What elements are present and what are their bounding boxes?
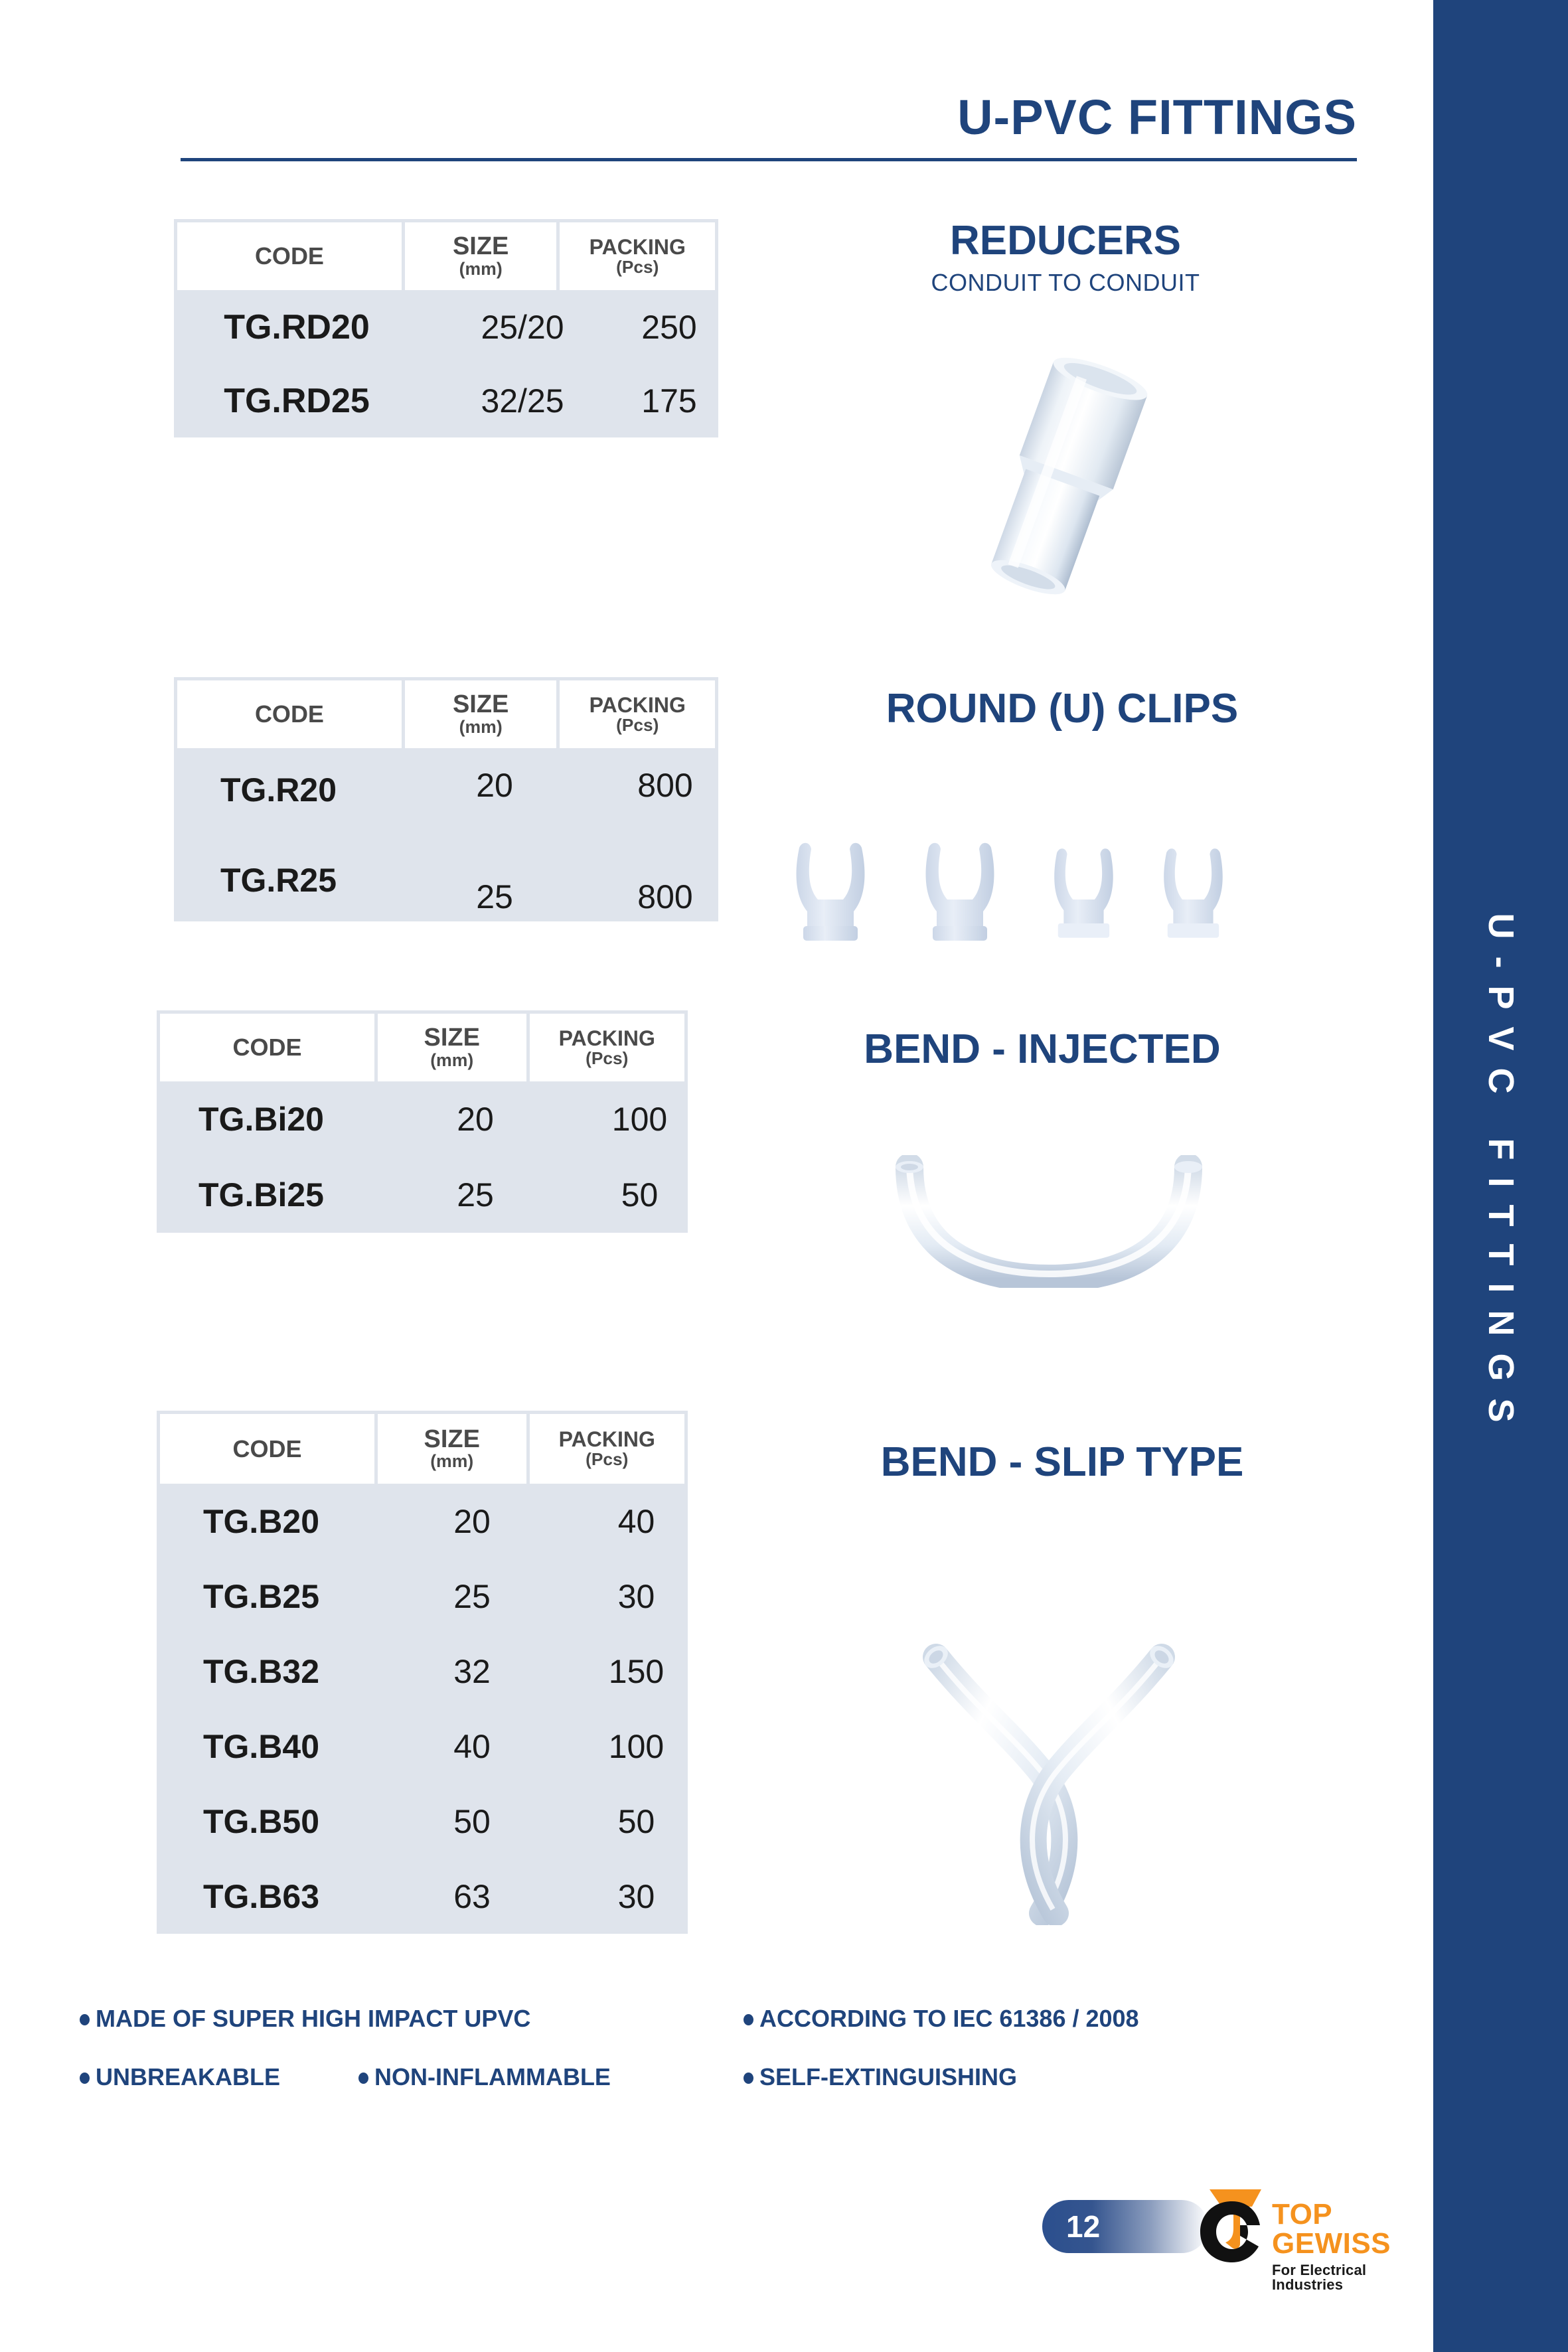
page-number: 12 — [1066, 2209, 1100, 2244]
spec-column-packing: 100 50 — [591, 1081, 688, 1233]
section-title: BEND - SLIP TYPE — [763, 1441, 1361, 1484]
table-cell-size: 32 — [396, 1634, 548, 1709]
section-heading-bend-injected: BEND - INJECTED — [744, 1028, 1341, 1071]
feature-row-1: MADE OF SUPER HIGH IMPACT UPVC ACCORDING… — [80, 2005, 1341, 2033]
table-cell-code: TG.B40 — [157, 1709, 366, 1784]
feature-label: MADE OF SUPER HIGH IMPACT UPVC — [96, 2005, 530, 2033]
column-header-code: CODE — [160, 1014, 378, 1081]
bullet-dot-icon — [80, 2014, 90, 2025]
table-cell-size: 20 — [396, 1081, 555, 1157]
section-title: BEND - INJECTED — [744, 1028, 1341, 1071]
table-cell-packing: 50 — [585, 1784, 688, 1859]
table-cell-size: 20 — [396, 1484, 548, 1559]
table-cell-code: TG.B50 — [157, 1784, 366, 1859]
spec-column-code: TG.R25 — [174, 839, 383, 921]
feature-item: UNBREAKABLE — [80, 2063, 358, 2091]
spec-column-size: 20 25 — [396, 1081, 555, 1233]
section-subtitle: CONDUIT TO CONDUIT — [790, 269, 1341, 297]
feature-item: ACCORDING TO IEC 61386 / 2008 — [744, 2005, 1139, 2033]
page-header: U-PVC FITTINGS — [181, 93, 1357, 161]
side-tab-upvc-fittings: U-PVC FITTINGS — [1433, 0, 1568, 2352]
table-cell-code: TG.RD25 — [174, 364, 420, 437]
table-cell-packing: 800 — [612, 872, 718, 921]
feature-bullets: MADE OF SUPER HIGH IMPACT UPVC ACCORDING… — [80, 2005, 1341, 2091]
table-cell-packing: 150 — [585, 1634, 688, 1709]
header-rule — [181, 158, 1357, 161]
table-cell-packing: 175 — [620, 364, 718, 437]
bullet-dot-icon — [80, 2073, 90, 2084]
feature-label: ACCORDING TO IEC 61386 / 2008 — [759, 2005, 1139, 2033]
spec-column-size: 20 25 — [418, 748, 571, 872]
column-header-size: SIZE (mm) — [405, 680, 560, 748]
section-title: REDUCERS — [790, 219, 1341, 262]
table-cell-packing: 40 — [585, 1484, 688, 1559]
product-image-slip-type-bends — [876, 1593, 1221, 1925]
table-cell-code: TG.B25 — [157, 1559, 366, 1634]
feature-item: MADE OF SUPER HIGH IMPACT UPVC — [80, 2005, 744, 2033]
column-header-code: CODE — [177, 680, 405, 748]
table-cell-code: TG.Bi20 — [157, 1081, 366, 1157]
table-cell-code: TG.R20 — [174, 748, 383, 831]
column-header-packing: PACKING (Pcs) — [560, 680, 715, 748]
table-cell-size: 25 — [396, 1157, 555, 1233]
feature-row-2: UNBREAKABLE NON-INFLAMMABLE SELF-EXTINGU… — [80, 2063, 1341, 2091]
table-cell-packing: 800 — [612, 748, 718, 823]
section-heading-round-u-clips: ROUND (U) CLIPS — [763, 687, 1361, 730]
table-cell-code: TG.B63 — [157, 1859, 366, 1934]
catalog-page: U-PVC FITTINGS CODE SIZE (mm) PACKING (P… — [0, 0, 1433, 2352]
brand-tagline: For Electrical Industries — [1272, 2263, 1391, 2292]
table-cell-size: 63 — [396, 1859, 548, 1934]
feature-label: UNBREAKABLE — [96, 2063, 280, 2091]
page-footer: 12 TOP GEWISS For Electrical Industries — [1042, 2185, 1374, 2285]
column-header-size: SIZE (mm) — [378, 1414, 530, 1484]
brand-logo-text: TOP GEWISS For Electrical Industries — [1272, 2200, 1391, 2292]
feature-item: NON-INFLAMMABLE — [358, 2063, 744, 2091]
feature-label: SELF-EXTINGUISHING — [759, 2063, 1017, 2091]
table-cell-size: 32/25 — [449, 364, 595, 437]
section-title: ROUND (U) CLIPS — [763, 687, 1361, 730]
column-header-code: CODE — [160, 1414, 378, 1484]
spec-table-bend-slip-type: CODE SIZE (mm) PACKING (Pcs) TG.B20 TG.B… — [157, 1411, 688, 1934]
table-cell-packing: 30 — [585, 1559, 688, 1634]
table-cell-code: TG.B20 — [157, 1484, 366, 1559]
column-header-size: SIZE (mm) — [405, 222, 560, 290]
table-cell-size: 20 — [418, 748, 571, 823]
product-image-reducer-coupling — [929, 345, 1195, 611]
product-image-round-u-clips — [783, 833, 1334, 953]
page-title: U-PVC FITTINGS — [181, 93, 1357, 142]
spec-column-code: TG.RD20 TG.RD25 — [174, 290, 420, 437]
top-gewiss-logo-icon — [1183, 2187, 1268, 2266]
table-cell-size: 25/20 — [449, 290, 595, 364]
spec-table-reducers: CODE SIZE (mm) PACKING (Pcs) TG.RD20 TG.… — [174, 219, 718, 437]
table-cell-code: TG.RD20 — [174, 290, 420, 364]
table-cell-packing: 100 — [585, 1709, 688, 1784]
spec-column-size: 25/20 32/25 — [449, 290, 595, 437]
bullet-dot-icon — [744, 2073, 753, 2084]
side-tab-label: U-PVC FITTINGS — [1480, 913, 1522, 1439]
column-header-size: SIZE (mm) — [378, 1014, 530, 1081]
feature-label: NON-INFLAMMABLE — [374, 2063, 611, 2091]
spec-column-code: TG.Bi20 TG.Bi25 — [157, 1081, 366, 1233]
spec-column-packing: 250 175 — [620, 290, 718, 437]
table-cell-size: 25 — [418, 872, 571, 921]
spec-column-size: 20 25 32 40 50 63 — [396, 1484, 548, 1934]
brand-name: TOP GEWISS — [1272, 2200, 1391, 2258]
bullet-dot-icon — [358, 2073, 368, 2084]
table-cell-packing: 50 — [591, 1157, 688, 1233]
table-cell-packing: 30 — [585, 1859, 688, 1934]
section-heading-reducers: REDUCERS CONDUIT TO CONDUIT — [790, 219, 1341, 297]
table-cell-packing: 100 — [591, 1081, 688, 1157]
spec-column-packing: 40 30 150 100 50 30 — [585, 1484, 688, 1934]
spec-column-packing: 800 800 — [612, 748, 718, 872]
section-heading-bend-slip-type: BEND - SLIP TYPE — [763, 1441, 1361, 1484]
column-header-packing: PACKING (Pcs) — [530, 1414, 685, 1484]
bullet-dot-icon — [744, 2014, 753, 2025]
table-cell-size: 40 — [396, 1709, 548, 1784]
table-cell-code: TG.B32 — [157, 1634, 366, 1709]
spec-table-round-u-clips: CODE SIZE (mm) PACKING (Pcs) TG.R20 — [174, 677, 718, 921]
product-image-injected-bend — [883, 1155, 1215, 1288]
column-header-packing: PACKING (Pcs) — [530, 1014, 685, 1081]
table-cell-size: 50 — [396, 1784, 548, 1859]
column-header-code: CODE — [177, 222, 405, 290]
table-cell-packing: 250 — [620, 290, 718, 364]
table-cell-code: TG.Bi25 — [157, 1157, 366, 1233]
column-header-packing: PACKING (Pcs) — [560, 222, 715, 290]
table-cell-size: 25 — [396, 1559, 548, 1634]
table-cell-code: TG.R25 — [174, 839, 383, 921]
spec-column-code: TG.B20 TG.B25 TG.B32 TG.B40 TG.B50 TG.B6… — [157, 1484, 366, 1934]
spec-column-code: TG.R20 — [174, 748, 383, 831]
feature-item: SELF-EXTINGUISHING — [744, 2063, 1017, 2091]
spec-table-bend-injected: CODE SIZE (mm) PACKING (Pcs) TG.Bi20 TG.… — [157, 1010, 688, 1233]
